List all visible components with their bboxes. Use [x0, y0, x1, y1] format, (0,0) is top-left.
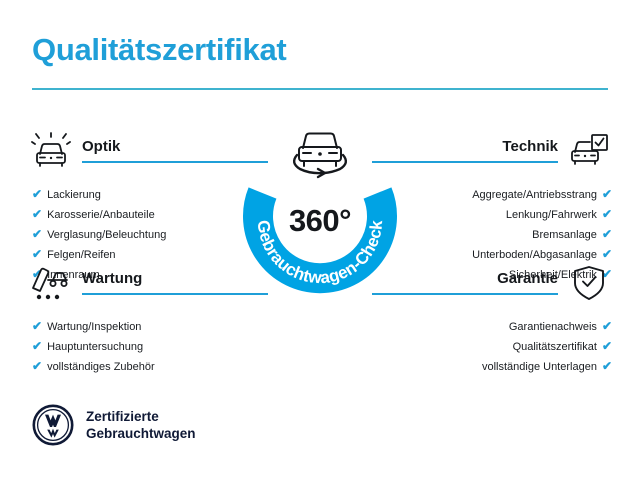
list-item: Bremsanlage✔ — [372, 225, 612, 245]
car-rotate-360-icon — [280, 125, 360, 181]
check-icon: ✔ — [32, 357, 42, 376]
check-icon: ✔ — [602, 225, 612, 244]
title-divider — [32, 88, 608, 90]
section-garantie-header: Garantie — [372, 262, 612, 308]
check-icon: ✔ — [32, 205, 42, 224]
list-item-label: vollständiges Zubehör — [47, 358, 155, 377]
list-item-label: Garantienachweis — [509, 318, 597, 337]
vw-brand-line1: Zertifizierte — [86, 408, 196, 425]
section-technik-header: Technik — [372, 130, 612, 176]
list-item: Aggregate/Antriebsstrang✔ — [372, 185, 612, 205]
list-item-label: Aggregate/Antriebsstrang — [472, 186, 597, 205]
list-item-label: Hauptuntersuchung — [47, 338, 143, 357]
list-item-label: Lackierung — [47, 186, 101, 205]
check-icon: ✔ — [602, 317, 612, 336]
list-item-label: Lenkung/Fahrwerk — [506, 206, 597, 225]
list-item: ✔Hauptuntersuchung — [28, 337, 268, 357]
list-item: Qualitätszertifikat✔ — [372, 337, 612, 357]
list-item-label: Verglasung/Beleuchtung — [47, 226, 166, 245]
list-item-label: Qualitätszertifikat — [513, 338, 597, 357]
badge-360-gebrauchtwagen-check: Gebrauchtwagen-Check 360° — [232, 133, 408, 309]
check-icon: ✔ — [32, 337, 42, 356]
list-item-label: Bremsanlage — [532, 226, 597, 245]
check-icon: ✔ — [32, 225, 42, 244]
list-item: Lenkung/Fahrwerk✔ — [372, 205, 612, 225]
check-icon: ✔ — [32, 185, 42, 204]
check-icon: ✔ — [32, 317, 42, 336]
section-garantie-list: Garantienachweis✔ Qualitätszertifikat✔ v… — [372, 317, 612, 377]
check-icon: ✔ — [602, 357, 612, 376]
vw-brand-line2: Gebrauchtwagen — [86, 425, 196, 442]
vw-brand-lockup: Zertifizierte Gebrauchtwagen — [32, 404, 196, 446]
check-icon: ✔ — [602, 337, 612, 356]
list-item-label: Karosserie/Anbauteile — [47, 206, 155, 225]
qualitaetszertifikat-page: Qualitätszertifikat Optik ✔Lackierung — [0, 0, 640, 480]
list-item-label: Wartung/Inspektion — [47, 318, 141, 337]
list-item: ✔vollständiges Zubehör — [28, 357, 268, 377]
section-garantie: Garantie Garantienachweis✔ Qualitätszert… — [372, 262, 612, 377]
shield-check-icon — [566, 262, 612, 304]
list-item-label: vollständige Unterlagen — [482, 358, 597, 377]
vw-logo — [32, 404, 74, 446]
list-item: vollständige Unterlagen✔ — [372, 357, 612, 377]
car-shine-icon — [28, 130, 74, 172]
list-item: Garantienachweis✔ — [372, 317, 612, 337]
vw-brand-text: Zertifizierte Gebrauchtwagen — [86, 408, 196, 442]
list-item: ✔Wartung/Inspektion — [28, 317, 268, 337]
check-icon: ✔ — [602, 185, 612, 204]
car-lift-icon — [28, 262, 74, 304]
section-wartung-list: ✔Wartung/Inspektion ✔Hauptuntersuchung ✔… — [28, 317, 268, 377]
check-icon: ✔ — [602, 205, 612, 224]
page-title: Qualitätszertifikat — [32, 32, 286, 68]
car-checkbox-icon — [566, 130, 612, 172]
